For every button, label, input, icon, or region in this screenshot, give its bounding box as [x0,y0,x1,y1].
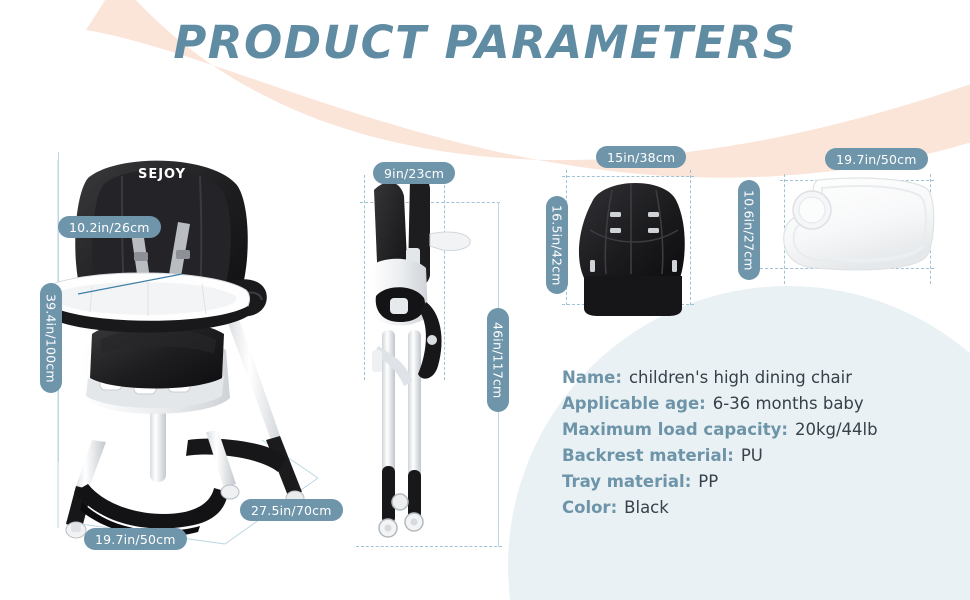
spec-label: Tray material: [562,472,691,491]
spec-label: Color: [562,498,617,517]
spec-row-tray-material: Tray material: PP [562,472,878,491]
dimension-pill-tray-depth: 10.2in/26cm [58,216,161,238]
dimension-pill-chair-width: 19.7in/50cm [84,528,187,550]
dimension-pill-cushion-height: 16.5in/42cm [546,196,568,294]
assembled-chair-illustration: SEJOY [30,140,350,560]
dimension-pill-chair-depth: 27.5in/70cm [240,499,343,521]
folded-chair-illustration [352,170,502,560]
brand-logo: SEJOY [138,167,186,182]
chair-tray [45,273,250,333]
dimension-pill-cushion-width: 15in/38cm [596,146,686,168]
specification-list: Name: children's high dining chair Appli… [562,368,878,524]
tray-illustration [770,172,950,292]
spec-label: Maximum load capacity: [562,420,788,439]
seat-cushion-illustration [556,168,706,318]
spec-value: 20kg/44lb [795,420,878,439]
folded-seat-pack [372,175,470,386]
spec-row-backrest-material: Backrest material: PU [562,446,878,465]
dimension-pill-folded-height: 46in/117cm [487,308,509,412]
dimension-pill-tray-height: 10.6in/27cm [738,180,760,280]
spec-row-applicable-age: Applicable age: 6-36 months baby [562,394,878,413]
spec-value: 6-36 months baby [713,394,864,413]
spec-value: PP [698,472,718,491]
spec-label: Applicable age: [562,394,706,413]
infographic-canvas: PRODUCT PARAMETERS [0,0,970,600]
spec-row-color: Color: Black [562,498,878,517]
spec-row-max-load: Maximum load capacity: 20kg/44lb [562,420,878,439]
tray-cup-holder [793,191,831,229]
spec-value: PU [741,446,763,465]
spec-label: Backrest material: [562,446,734,465]
spec-value: children's high dining chair [629,368,852,387]
dimension-pill-chair-height: 39.4in/100cm [40,283,62,393]
spec-label: Name: [562,368,622,387]
spec-value: Black [624,498,669,517]
spec-row-name: Name: children's high dining chair [562,368,878,387]
dimension-pill-tray-width: 19.7in/50cm [825,148,928,170]
dimension-pill-folded-width: 9in/23cm [373,162,455,184]
chair-rear-legs [226,316,304,505]
page-title: PRODUCT PARAMETERS [0,16,970,69]
